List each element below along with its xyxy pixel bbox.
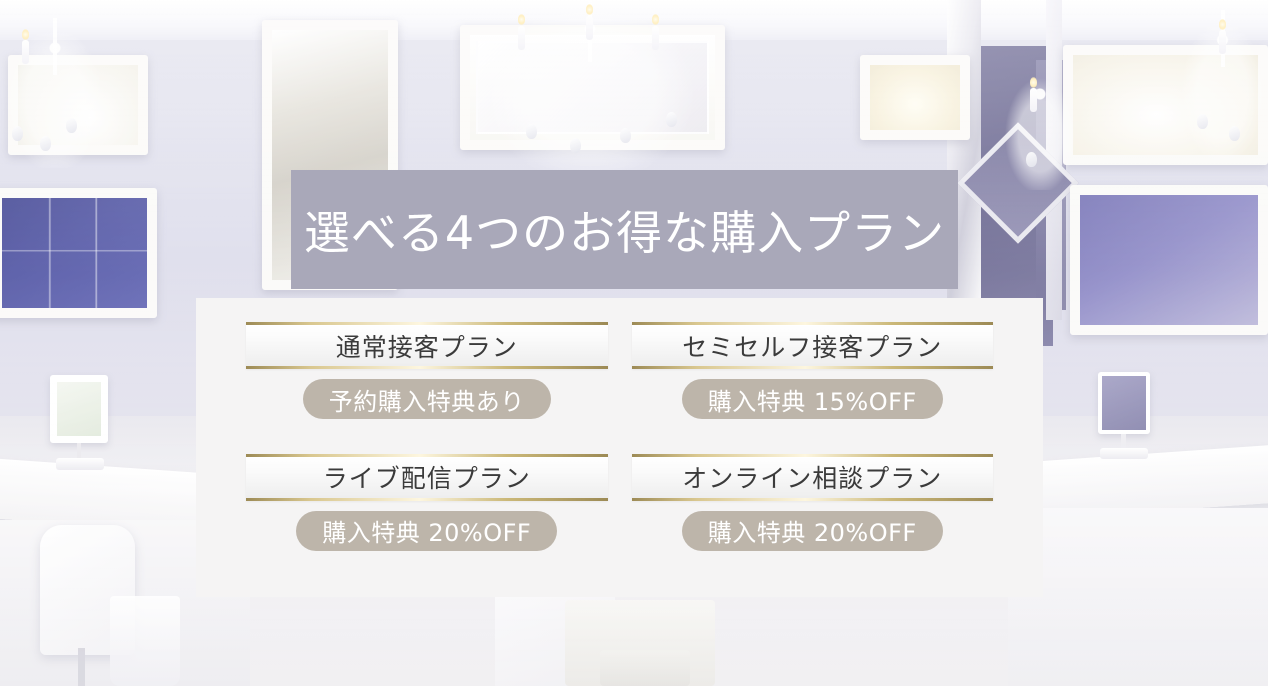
plan-card-semi-self[interactable]: セミセルフ接客プラン 購入特典 15%OFF [632, 322, 994, 440]
plan-card-standard[interactable]: 通常接客プラン 予約購入特典あり [246, 322, 608, 440]
page-title: 選べる4つのお得な購入プラン [304, 197, 945, 263]
plan-name: セミセルフ接客プラン [682, 328, 942, 364]
plan-benefit-label: 購入特典 20%OFF [322, 513, 531, 548]
plan-name: ライブ配信プラン [323, 459, 531, 495]
plan-benefit-badge: 購入特典 20%OFF [296, 511, 557, 551]
plan-benefit-label: 購入特典 20%OFF [708, 513, 917, 548]
plan-header: セミセルフ接客プラン [632, 322, 994, 369]
plan-header: ライブ配信プラン [246, 454, 608, 501]
plan-header: 通常接客プラン [246, 322, 608, 369]
plan-name: 通常接客プラン [336, 328, 518, 364]
plan-header: オンライン相談プラン [632, 454, 994, 501]
plan-name: オンライン相談プラン [682, 459, 942, 495]
hero-title-band: 選べる4つのお得な購入プラン [291, 170, 958, 289]
plan-benefit-badge: 購入特典 20%OFF [682, 511, 943, 551]
plan-benefit-badge: 予約購入特典あり [303, 379, 551, 419]
page-stage: 選べる4つのお得な購入プラン 通常接客プラン 予約購入特典あり セミセルフ接客プ… [0, 0, 1268, 686]
plan-benefit-label: 予約購入特典あり [329, 382, 525, 417]
plan-benefit-label: 購入特典 15%OFF [708, 382, 917, 417]
plan-card-online-consultation[interactable]: オンライン相談プラン 購入特典 20%OFF [632, 454, 994, 572]
plans-grid: 通常接客プラン 予約購入特典あり セミセルフ接客プラン 購入特典 15%OFF … [196, 298, 1043, 597]
plans-panel: 通常接客プラン 予約購入特典あり セミセルフ接客プラン 購入特典 15%OFF … [196, 298, 1043, 597]
plan-benefit-badge: 購入特典 15%OFF [682, 379, 943, 419]
plan-card-live-streaming[interactable]: ライブ配信プラン 購入特典 20%OFF [246, 454, 608, 572]
